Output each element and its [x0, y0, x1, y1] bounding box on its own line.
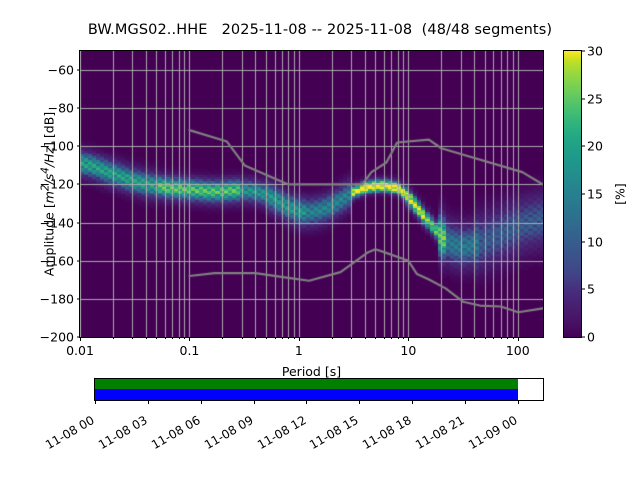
ppsd-figure: BW.MGS02..HHE 2025-11-08 -- 2025-11-08 (… [0, 0, 640, 480]
x-tick-mark [518, 337, 519, 341]
colorbar-tick-label: 0 [587, 330, 595, 345]
ppsd-axes[interactable]: Amplitude [m2/s4/Hz] [dB] Period [s] −20… [79, 50, 544, 338]
time-tick-label: 11-08 18 [360, 413, 414, 452]
coverage-bar-psd [95, 379, 518, 389]
time-tick-mark [95, 400, 96, 404]
time-tick-label: 11-09 00 [466, 413, 520, 452]
x-minor-tick-mark [113, 337, 114, 339]
colorbar-tick-label: 20 [587, 139, 603, 154]
x-minor-tick-mark [384, 337, 385, 339]
colorbar-tick-mark [581, 337, 585, 338]
time-tick-mark [254, 400, 255, 404]
x-minor-tick-mark [365, 337, 366, 339]
colorbar-tick-mark [581, 289, 585, 290]
colorbar-label: [%] [612, 183, 627, 205]
x-minor-tick-mark [156, 337, 157, 339]
x-minor-tick-mark [501, 337, 502, 339]
y-tick-label: −100 [40, 139, 74, 154]
x-minor-tick-mark [461, 337, 462, 339]
coverage-axes[interactable]: 11-08 0011-08 0311-08 0611-08 0911-08 12… [94, 378, 544, 401]
x-minor-tick-mark [146, 337, 147, 339]
x-minor-tick-mark [132, 337, 133, 339]
colorbar-tick-label: 15 [587, 187, 603, 202]
x-minor-tick-mark [282, 337, 283, 339]
time-tick-label: 11-08 09 [202, 413, 256, 452]
colorbar-tick-label: 30 [587, 44, 603, 59]
x-axis-label: Period [s] [80, 364, 543, 379]
colorbar-tick-mark [581, 51, 585, 52]
y-tick-label: −180 [40, 291, 74, 306]
x-tick-mark [189, 337, 190, 341]
y-tick-label: −160 [40, 253, 74, 268]
y-tick-mark [77, 260, 81, 261]
x-minor-tick-mark [266, 337, 267, 339]
time-tick-mark [306, 400, 307, 404]
y-tick-mark [77, 70, 81, 71]
x-minor-tick-mark [165, 337, 166, 339]
coverage-bar-data [95, 389, 518, 400]
colorbar[interactable]: [%] 051015202530 [563, 50, 582, 338]
x-minor-tick-mark [441, 337, 442, 339]
x-tick-mark [299, 337, 300, 341]
y-tick-mark [77, 108, 81, 109]
colorbar-tick-label: 25 [587, 91, 603, 106]
x-minor-tick-mark [222, 337, 223, 339]
page-title: BW.MGS02..HHE 2025-11-08 -- 2025-11-08 (… [0, 22, 640, 38]
x-minor-tick-mark [275, 337, 276, 339]
x-minor-tick-mark [375, 337, 376, 339]
time-tick-label: 11-08 15 [307, 413, 361, 452]
x-minor-tick-mark [507, 337, 508, 339]
colorbar-tick-mark [581, 146, 585, 147]
x-minor-tick-mark [493, 337, 494, 339]
x-tick-label: 0.01 [66, 343, 94, 358]
time-tick-label: 11-08 12 [255, 413, 309, 452]
time-tick-mark [201, 400, 202, 404]
time-tick-label: 11-08 00 [43, 413, 97, 452]
ppsd-heatmap [80, 51, 543, 337]
x-minor-tick-mark [242, 337, 243, 339]
colorbar-tick-mark [581, 241, 585, 242]
colorbar-tick-mark [581, 194, 585, 195]
y-tick-label: −80 [48, 101, 74, 116]
x-minor-tick-mark [288, 337, 289, 339]
time-tick-mark [412, 400, 413, 404]
colorbar-tick-label: 5 [587, 282, 595, 297]
x-minor-tick-mark [513, 337, 514, 339]
time-tick-mark [359, 400, 360, 404]
colorbar-tick-mark [581, 98, 585, 99]
x-minor-tick-mark [474, 337, 475, 339]
x-minor-tick-mark [294, 337, 295, 339]
time-tick-label: 11-08 06 [149, 413, 203, 452]
y-tick-mark [77, 298, 81, 299]
x-minor-tick-mark [403, 337, 404, 339]
time-tick-mark [148, 400, 149, 404]
y-tick-mark [77, 146, 81, 147]
x-tick-mark [408, 337, 409, 341]
time-tick-label: 11-08 03 [96, 413, 150, 452]
colorbar-tick-label: 10 [587, 234, 603, 249]
x-minor-tick-mark [351, 337, 352, 339]
y-tick-label: −120 [40, 177, 74, 192]
x-minor-tick-mark [172, 337, 173, 339]
y-tick-label: −140 [40, 215, 74, 230]
x-minor-tick-mark [184, 337, 185, 339]
y-tick-mark [77, 184, 81, 185]
x-minor-tick-mark [332, 337, 333, 339]
y-tick-mark [77, 222, 81, 223]
time-tick-label: 11-08 21 [413, 413, 467, 452]
x-minor-tick-mark [398, 337, 399, 339]
x-tick-label: 0.1 [179, 343, 199, 358]
x-tick-label: 10 [400, 343, 416, 358]
x-minor-tick-mark [391, 337, 392, 339]
time-tick-mark [518, 400, 519, 404]
x-minor-tick-mark [485, 337, 486, 339]
x-minor-tick-mark [255, 337, 256, 339]
y-tick-label: −60 [48, 63, 74, 78]
x-tick-label: 100 [506, 343, 530, 358]
x-tick-mark [80, 337, 81, 341]
time-tick-mark [465, 400, 466, 404]
x-minor-tick-mark [179, 337, 180, 339]
x-tick-label: 1 [295, 343, 303, 358]
